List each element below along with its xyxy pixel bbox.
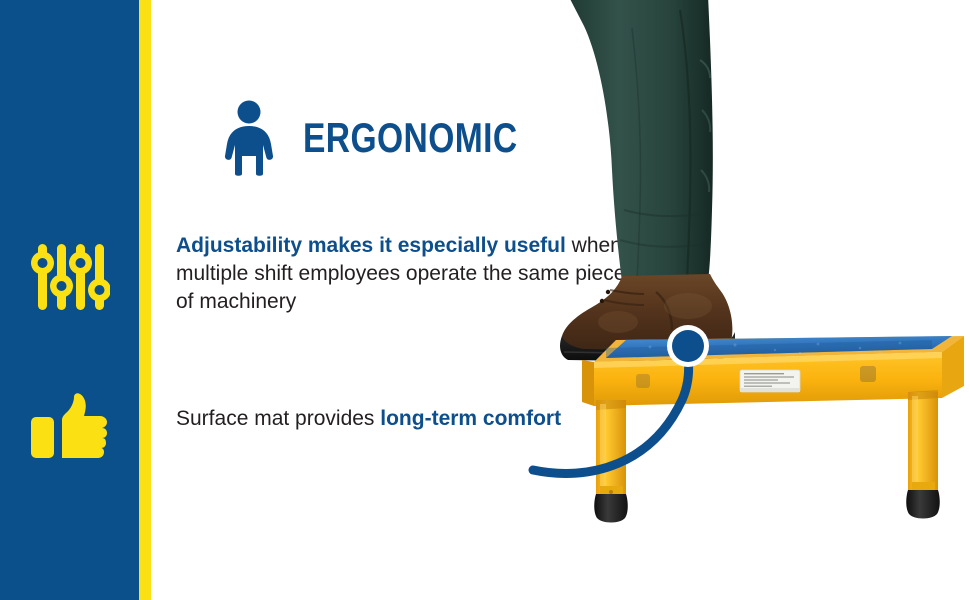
feature-banner: ERGONOMIC Adjustability makes it especia… (0, 0, 970, 600)
spec-label (740, 370, 800, 392)
person-standing-icon-svg (221, 100, 277, 176)
comfort-line-prefix: Surface mat provides (176, 407, 380, 430)
product-photo-step-stool (560, 0, 970, 600)
person-standing-icon (221, 100, 277, 176)
sidebar-accent-stripe (139, 0, 151, 600)
thumbs-up-icon-svg (29, 393, 111, 461)
trouser-leg (568, 0, 713, 282)
page-title: ERGONOMIC (303, 114, 518, 162)
feature-paragraph-lead: Adjustability makes it especially useful (176, 234, 566, 257)
product-photo-svg (560, 0, 970, 600)
thumbs-up-icon (0, 388, 139, 466)
sliders-icon-svg (30, 242, 110, 312)
comfort-line-accent: long-term comfort (380, 407, 561, 430)
sliders-icon (0, 238, 139, 316)
heading-row: ERGONOMIC (221, 100, 571, 176)
stool-frame (582, 336, 964, 523)
